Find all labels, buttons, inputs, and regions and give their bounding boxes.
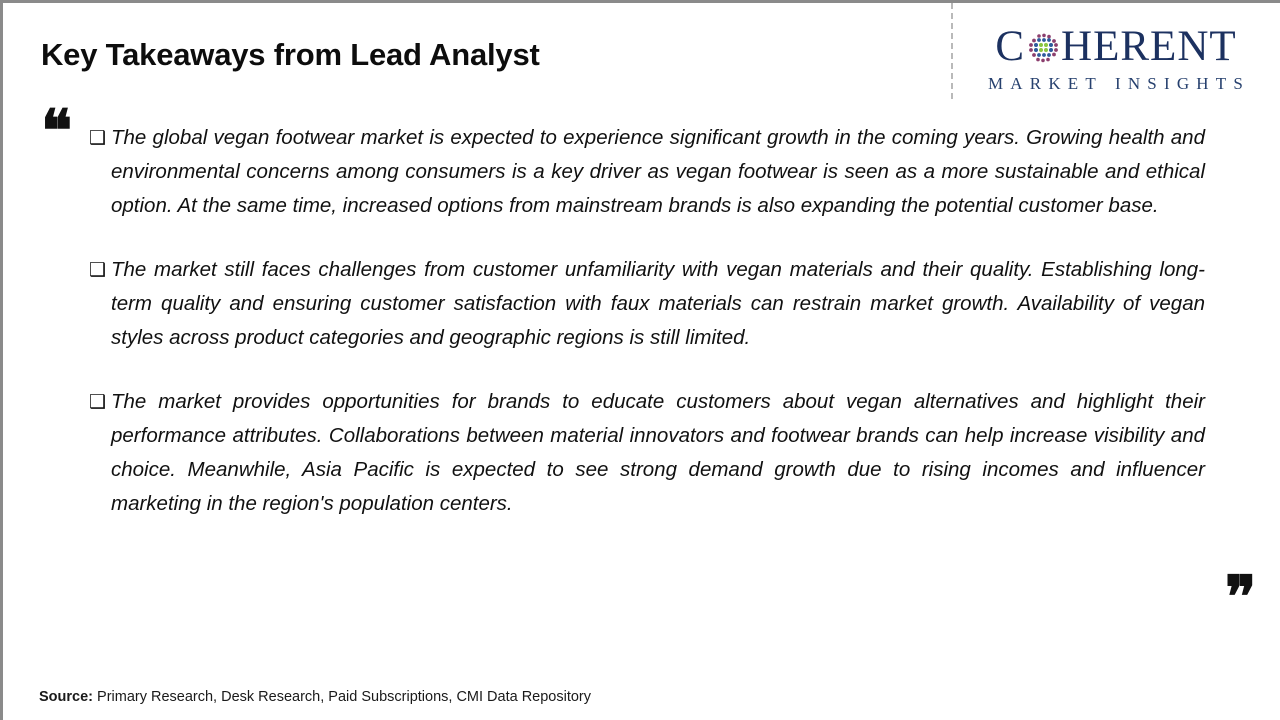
logo-wordmark-rest: HERENT bbox=[1061, 25, 1237, 68]
logo-divider bbox=[951, 3, 953, 99]
slide-canvas: Key Takeaways from Lead Analyst C bbox=[0, 0, 1280, 720]
list-item-text: The market provides opportunities for br… bbox=[111, 390, 1205, 515]
logo-tagline-word-2: INSIGHTS bbox=[1115, 74, 1250, 93]
logo-wordmark: C bbox=[966, 25, 1266, 68]
company-logo: C bbox=[966, 25, 1266, 94]
list-item: ❑ The market still faces challenges from… bbox=[89, 253, 1205, 355]
logo-letter-c: C bbox=[995, 25, 1025, 68]
logo-tagline: MARKETINSIGHTS bbox=[966, 74, 1266, 94]
dotted-globe-icon bbox=[1026, 31, 1060, 65]
source-label: Source: bbox=[39, 689, 93, 705]
list-item: ❑ The global vegan footwear market is ex… bbox=[89, 121, 1205, 223]
list-item-text: The global vegan footwear market is expe… bbox=[111, 126, 1205, 217]
list-item: ❑ The market provides opportunities for … bbox=[89, 385, 1205, 521]
page-title: Key Takeaways from Lead Analyst bbox=[41, 37, 540, 73]
source-note: Source: Primary Research, Desk Research,… bbox=[39, 689, 591, 705]
source-text: Primary Research, Desk Research, Paid Su… bbox=[97, 689, 591, 705]
takeaways-list: ❑ The global vegan footwear market is ex… bbox=[89, 121, 1205, 521]
opening-quote-icon: ❝ bbox=[41, 103, 72, 161]
square-bullet-icon: ❑ bbox=[89, 254, 106, 288]
square-bullet-icon: ❑ bbox=[89, 122, 106, 156]
closing-quote-icon: ❞ bbox=[1225, 569, 1256, 627]
list-item-text: The market still faces challenges from c… bbox=[111, 258, 1205, 349]
square-bullet-icon: ❑ bbox=[89, 386, 106, 420]
logo-tagline-word-1: MARKET bbox=[988, 74, 1103, 93]
